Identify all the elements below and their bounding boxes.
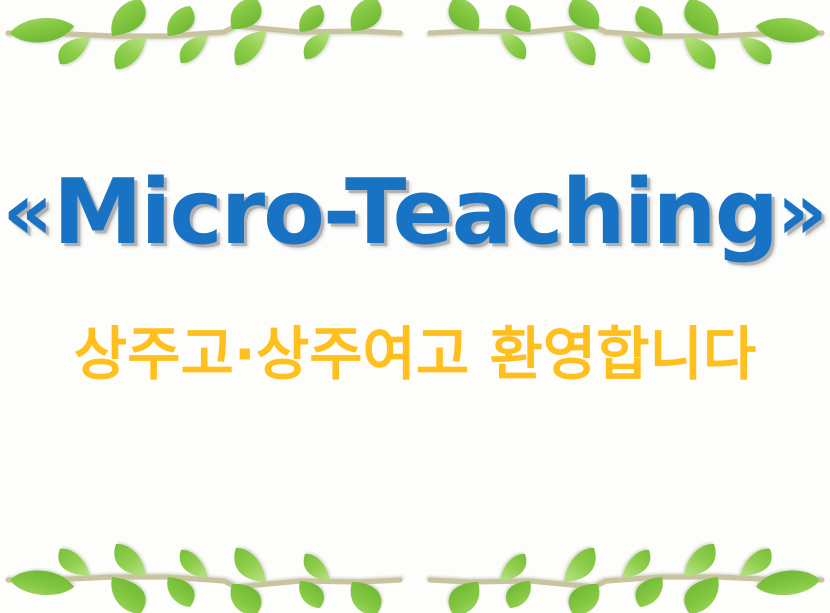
slide-title: «Micro-Teaching»: [3, 168, 828, 258]
title-block: «Micro-Teaching»: [0, 168, 830, 258]
leafy-branch-top-right: [415, 0, 830, 98]
open-quote-mark: «: [3, 167, 53, 257]
slide-subtitle: 상주고·상주여고 환영합니다: [74, 322, 757, 387]
leafy-branch-top-left: [0, 0, 415, 98]
close-quote-mark: »: [777, 167, 827, 257]
subtitle-block: 상주고·상주여고 환영합니다: [0, 322, 830, 387]
leafy-branch-bottom-left: [0, 515, 415, 613]
slide-canvas: «Micro-Teaching» 상주고·상주여고 환영합니다: [0, 0, 830, 613]
bottom-decoration-band: [0, 515, 830, 613]
leafy-branch-bottom-right: [415, 515, 830, 613]
top-decoration-band: [0, 0, 830, 98]
slide-title-text: Micro-Teaching: [53, 160, 777, 265]
